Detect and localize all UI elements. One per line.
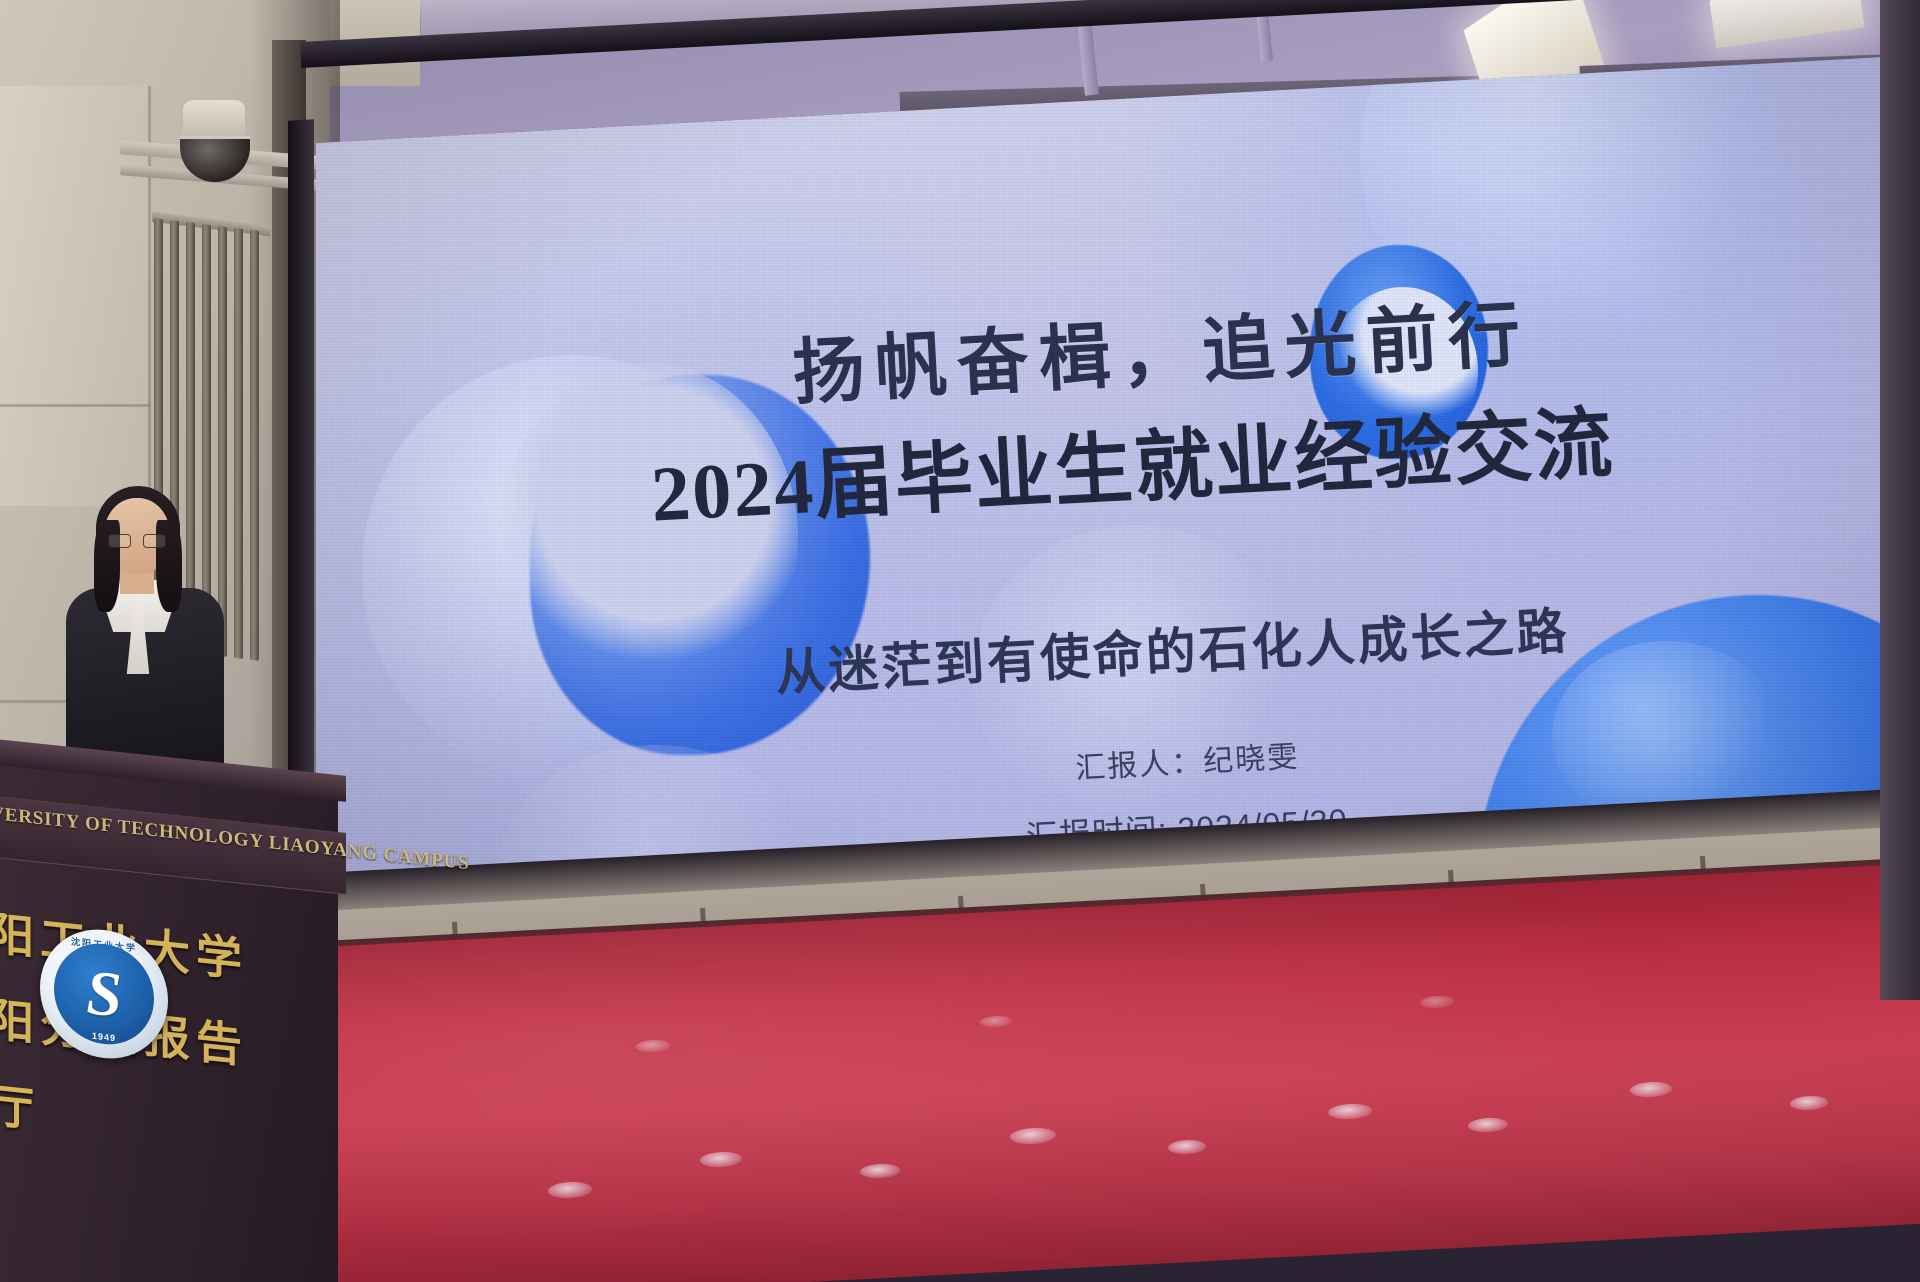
speaker-glasses-icon [108, 534, 166, 548]
decor-blob-mid [972, 525, 1302, 825]
decor-blob-blue-crescent [1328, 287, 1478, 455]
decor-blob-left-cut [498, 363, 798, 715]
screenshot-root: 扬帆奋楫，追光前行 2024届毕业生就业经验交流 从迷茫到有使命的石化人成长之路… [0, 0, 1920, 1282]
wall-seam-horizontal [0, 404, 150, 407]
right-wall-strip [1880, 0, 1920, 1000]
